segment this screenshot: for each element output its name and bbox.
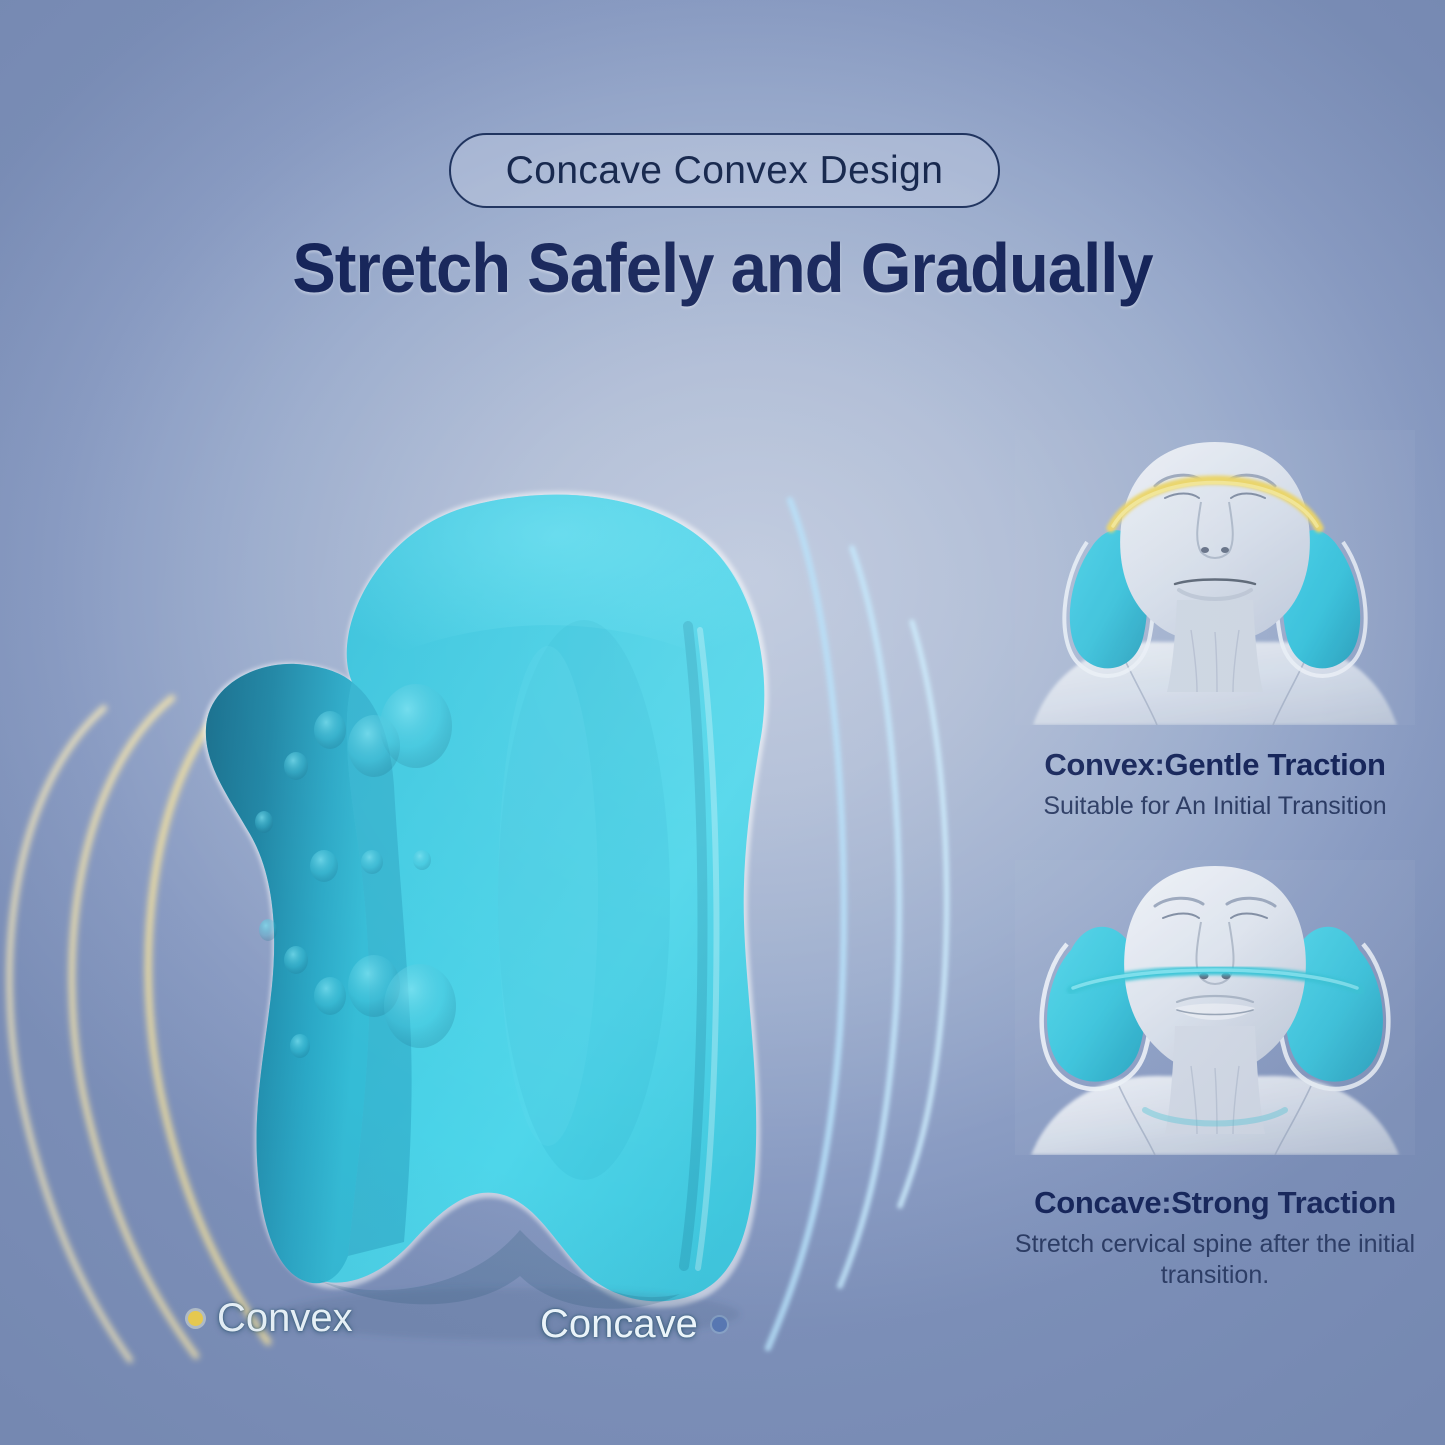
design-badge-label: Concave Convex Design [506, 149, 944, 193]
product-infographic: Concave Convex Design Stretch Safely and… [0, 0, 1445, 1445]
panel-concave-title: Concave:Strong Traction [1000, 1185, 1430, 1221]
page-headline: Stretch Safely and Gradually [51, 228, 1395, 308]
right-panel-column: Convex:Gentle Traction Suitable for An I… [1000, 430, 1430, 1390]
panel-convex-subtitle: Suitable for An Initial Transition [1000, 791, 1430, 822]
panel-concave-subtitle: Stretch cervical spine after the initial… [1000, 1229, 1430, 1290]
neck-pillow-surface [206, 495, 764, 1309]
gold-dot-icon [188, 1311, 203, 1326]
label-convex: Convex [188, 1296, 353, 1341]
product-illustration-area: Convex Concave [0, 430, 990, 1390]
label-concave: Concave [540, 1302, 727, 1347]
panel-convex: Convex:Gentle Traction Suitable for An I… [1000, 430, 1430, 822]
illustration-convex-gentle [1015, 430, 1415, 725]
panel-convex-title: Convex:Gentle Traction [1000, 747, 1430, 783]
label-convex-text: Convex [217, 1296, 353, 1341]
blue-wave-arcs [768, 500, 947, 1348]
illustration-concave-strong [1015, 860, 1415, 1155]
panel-concave: Concave:Strong Traction Stretch cervical… [1000, 860, 1430, 1290]
blue-dot-icon [712, 1317, 727, 1332]
product-graphic [0, 430, 990, 1390]
label-concave-text: Concave [540, 1302, 698, 1347]
design-badge-pill: Concave Convex Design [449, 133, 1000, 208]
